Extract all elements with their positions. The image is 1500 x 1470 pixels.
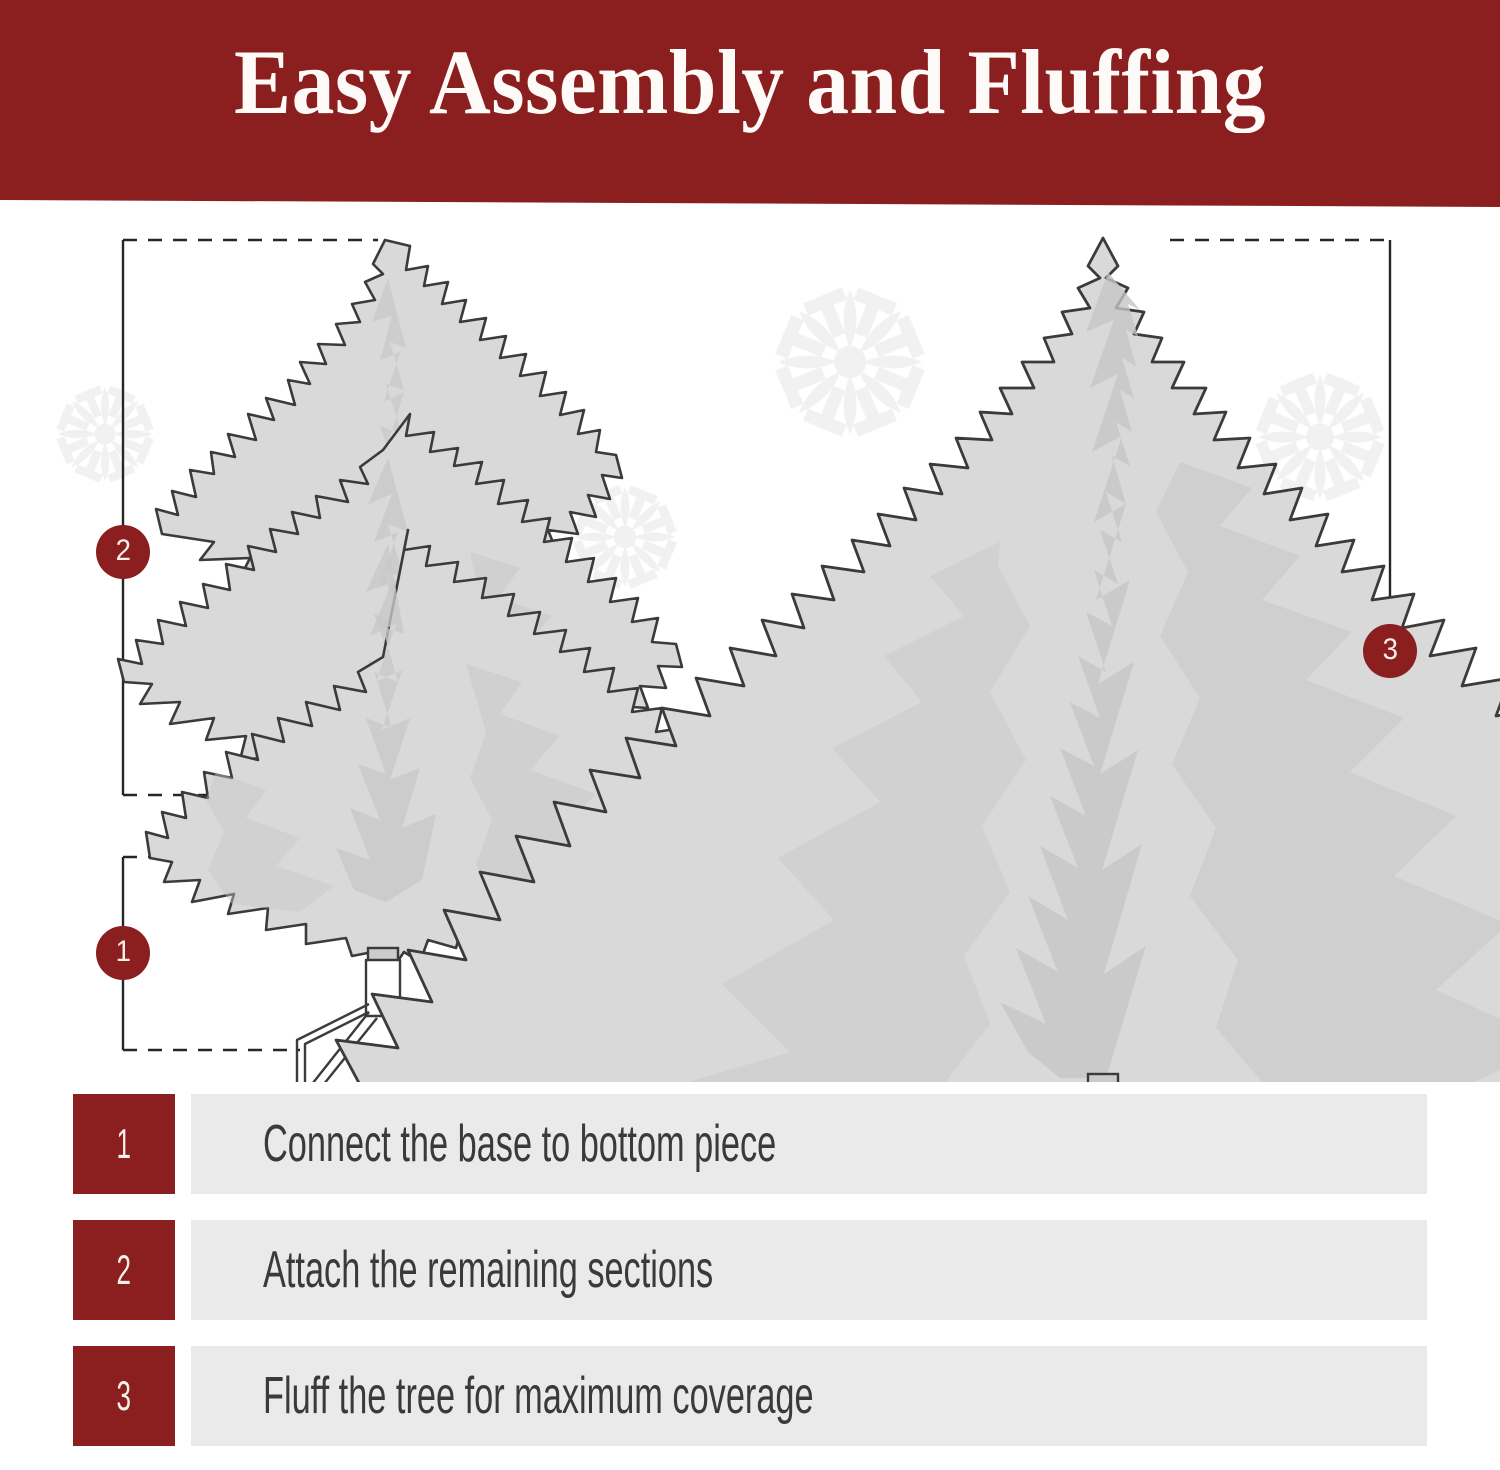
callout-badge-2: 2 — [96, 525, 150, 579]
steps-legend: 1 Connect the base to bottom piece 2 Att… — [0, 1082, 1500, 1470]
step-text-1: Connect the base to bottom piece — [263, 1114, 776, 1174]
step-number-1: 1 — [73, 1094, 175, 1194]
step-text-2: Attach the remaining sections — [263, 1240, 713, 1300]
step-row-1: 1 Connect the base to bottom piece — [73, 1094, 1427, 1194]
callout-badge-1: 1 — [96, 926, 150, 980]
callout-badge-3: 3 — [1363, 624, 1417, 678]
infographic-root: Easy Assembly and Fluffing — [0, 0, 1500, 1470]
step-row-2: 2 Attach the remaining sections — [73, 1220, 1427, 1320]
page-title: Easy Assembly and Fluffing — [53, 36, 1448, 128]
step-body-1: Connect the base to bottom piece — [191, 1094, 1427, 1194]
step-row-3: 3 Fluff the tree for maximum coverage — [73, 1346, 1427, 1446]
step-body-3: Fluff the tree for maximum coverage — [191, 1346, 1427, 1446]
assembly-diagram: 2 1 3 — [0, 212, 1500, 1082]
step-number-2: 2 — [73, 1220, 175, 1320]
step-text-3: Fluff the tree for maximum coverage — [263, 1366, 814, 1426]
step-body-2: Attach the remaining sections — [191, 1220, 1427, 1320]
step-number-3: 3 — [73, 1346, 175, 1446]
header-banner: Easy Assembly and Fluffing — [0, 0, 1500, 212]
